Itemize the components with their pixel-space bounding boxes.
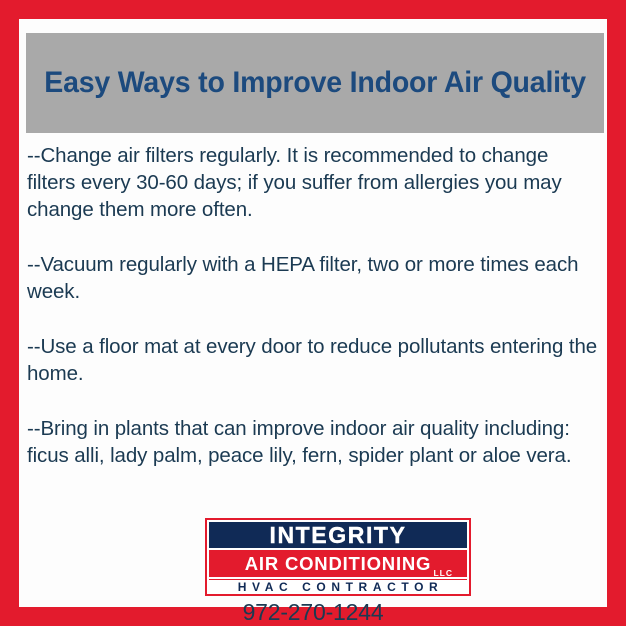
logo-service-name: AIR CONDITIONING bbox=[245, 555, 432, 574]
logo-band-service: AIR CONDITIONING LLC bbox=[209, 550, 467, 577]
logo-entity-suffix: LLC bbox=[433, 569, 453, 578]
inner-card: Easy Ways to Improve Indoor Air Quality … bbox=[19, 19, 607, 607]
list-item: --Use a floor mat at every door to reduc… bbox=[27, 333, 599, 387]
tips-list: --Change air filters regularly. It is re… bbox=[27, 142, 599, 469]
logo-band-tagline: HVAC CONTRACTOR bbox=[209, 579, 467, 594]
logo-company-name: INTEGRITY bbox=[269, 524, 406, 547]
phone-number[interactable]: 972-270-1244 bbox=[19, 599, 607, 626]
poster-graphic: Easy Ways to Improve Indoor Air Quality … bbox=[0, 0, 626, 626]
company-logo: INTEGRITY AIR CONDITIONING LLC HVAC CONT… bbox=[205, 518, 471, 596]
logo-tagline: HVAC CONTRACTOR bbox=[233, 581, 444, 593]
list-item: --Vacuum regularly with a HEPA filter, t… bbox=[27, 251, 599, 305]
title-banner: Easy Ways to Improve Indoor Air Quality bbox=[26, 33, 604, 133]
logo-band-company-name: INTEGRITY bbox=[209, 522, 467, 548]
list-item: --Bring in plants that can improve indoo… bbox=[27, 415, 599, 469]
page-title: Easy Ways to Improve Indoor Air Quality bbox=[44, 66, 586, 100]
list-item: --Change air filters regularly. It is re… bbox=[27, 142, 599, 223]
